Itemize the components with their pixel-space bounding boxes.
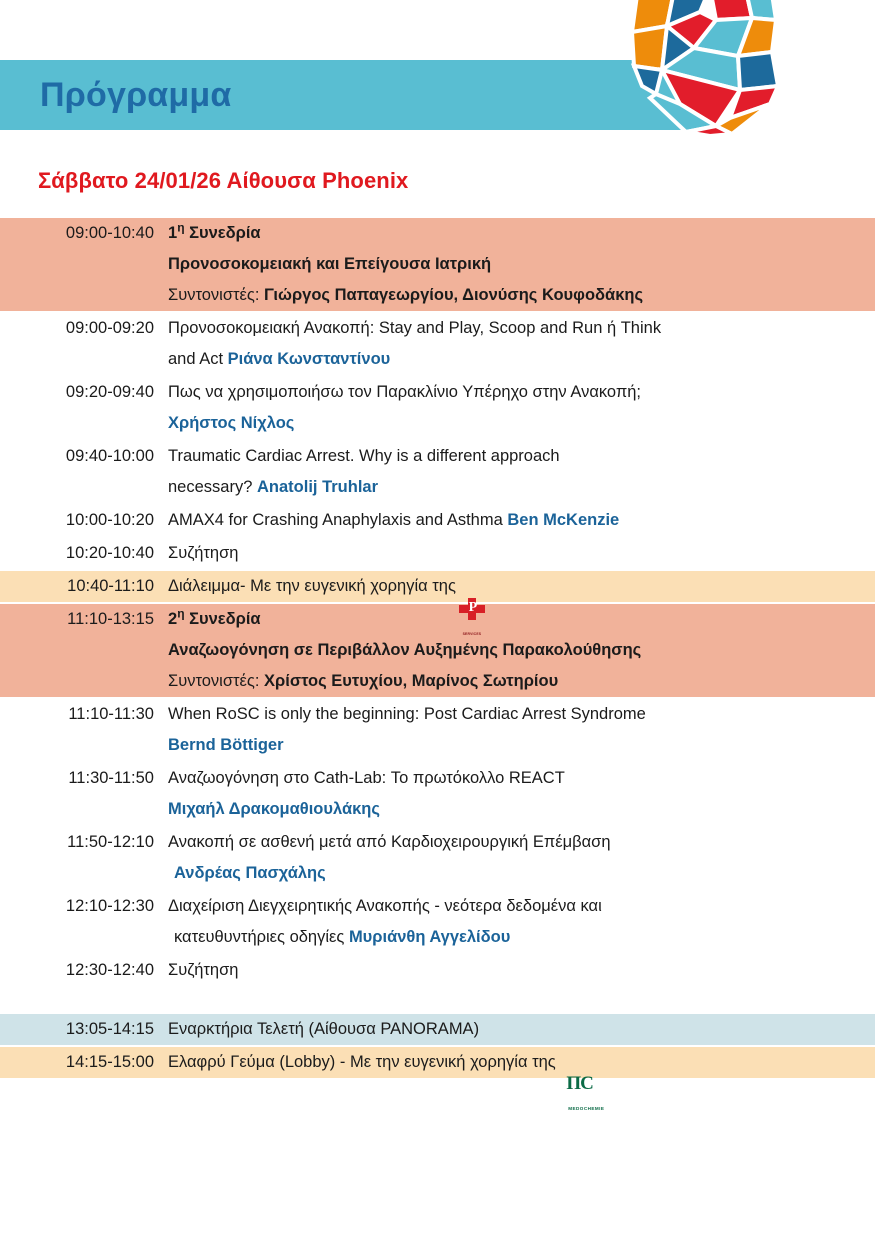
schedule-table: 09:00-10:40 1η Συνεδρία Προνοσοκομειακή … — [0, 218, 875, 1080]
talk-body: Διαχείριση Διεγχειρητικής Ανακοπής - νεό… — [168, 891, 875, 953]
talk-body: When RoSC is only the beginning: Post Ca… — [168, 699, 875, 761]
talk-body: Συζήτηση — [168, 538, 875, 569]
moderators-names: Χρίστος Ευτυχίου, Μαρίνος Σωτηρίου — [264, 672, 558, 690]
talk-title-line1: Πως να χρησιμοποιήσω τον Παρακλίνιο Υπέρ… — [168, 383, 641, 401]
talk-speaker: Ανδρέας Πασχάλης — [168, 858, 326, 889]
session-number: 2 — [168, 610, 177, 628]
session-word: Συνεδρία — [189, 610, 260, 628]
talk-body: Ανακοπή σε ασθενή μετά από Καρδιοχειρουρ… — [168, 827, 875, 889]
talk-title-line1: Συζήτηση — [168, 544, 238, 562]
row-time: 11:10-13:15 — [0, 604, 168, 635]
session-title: Προνοσοκομειακή και Επείγουσα Ιατρική — [168, 249, 845, 280]
talk-title-line1: Διαχείριση Διεγχειρητικής Ανακοπής - νεό… — [168, 897, 602, 915]
session-number-sup: η — [177, 607, 184, 621]
sponsor-subtext: MEDOCHEMIE — [563, 1093, 609, 1124]
row-time: 09:00-09:20 — [0, 313, 168, 344]
talk-title-line2: κατευθυντήριες οδηγίες — [168, 922, 344, 953]
session-title: Αναζωογόνηση σε Περιβάλλον Αυξημένης Παρ… — [168, 635, 845, 666]
talk-row: 11:10-11:30 When RoSC is only the beginn… — [0, 699, 875, 763]
talk-title-line1: Προνοσοκομειακή Ανακοπή: Stay and Play, … — [168, 319, 661, 337]
talk-body: Traumatic Cardiac Arrest. Why is a diffe… — [168, 441, 875, 503]
session-header-row: 09:00-10:40 1η Συνεδρία Προνοσοκομειακή … — [0, 218, 875, 313]
lunch-label: Ελαφρύ Γεύμα (Lobby) - Με την ευγενική χ… — [168, 1053, 556, 1071]
talk-speaker: Μιχαήλ Δρακομαθιουλάκης — [168, 800, 380, 818]
talk-row: 09:40-10:00 Traumatic Cardiac Arrest. Wh… — [0, 441, 875, 505]
talk-title-line1: When RoSC is only the beginning: Post Ca… — [168, 705, 646, 723]
session-word: Συνεδρία — [189, 224, 260, 242]
talk-row: 11:30-11:50 Αναζωογόνηση στο Cath-Lab: Τ… — [0, 763, 875, 827]
talk-speaker: Anatolij Truhlar — [257, 478, 378, 496]
talk-row: 10:20-10:40 Συζήτηση — [0, 538, 875, 571]
talk-row: 09:20-09:40 Πως να χρησιμοποιήσω τον Παρ… — [0, 377, 875, 441]
row-time: 11:30-11:50 — [0, 763, 168, 794]
talk-title-line1: Συζήτηση — [168, 961, 238, 979]
lunch-row: 14:15-15:00 Ελαφρύ Γεύμα (Lobby) - Με τη… — [0, 1047, 875, 1080]
page-title: Πρόγραμμα — [40, 74, 232, 116]
polygonal-heart-logo — [620, 0, 785, 136]
talk-row: 12:10-12:30 Διαχείριση Διεγχειρητικής Αν… — [0, 891, 875, 955]
session-number-sup: η — [177, 221, 184, 235]
talk-speaker: Μυριάνθη Αγγελίδου — [349, 928, 510, 946]
talk-title-line1: AMAX4 for Crashing Anaphylaxis and Asthm… — [168, 511, 503, 529]
talk-speaker: Ριάνα Κωνσταντίνου — [228, 350, 391, 368]
row-time: 10:40-11:10 — [0, 571, 168, 602]
talk-row: 12:30-12:40 Συζήτηση — [0, 955, 875, 988]
program-page: Πρόγραμμα — [0, 0, 875, 1241]
break-body: Διάλειμμα- Με την ευγενική χορηγία τηςPS… — [168, 571, 875, 602]
break-label: Διάλειμμα- Με την ευγενική χορηγία της — [168, 577, 456, 595]
session-header-body: 1η Συνεδρία Προνοσοκομειακή και Επείγουσ… — [168, 218, 875, 311]
row-time: 11:10-11:30 — [0, 699, 168, 730]
talk-row: 11:50-12:10 Ανακοπή σε ασθενή μετά από Κ… — [0, 827, 875, 891]
row-time: 10:00-10:20 — [0, 505, 168, 536]
session-header-row: 11:10-13:15 2η Συνεδρία Αναζωογόνηση σε … — [0, 604, 875, 699]
moderators-label: Συντονιστές: — [168, 286, 259, 304]
row-time: 14:15-15:00 — [0, 1047, 168, 1078]
talk-speaker: Bernd Böttiger — [168, 736, 284, 754]
row-time: 12:30-12:40 — [0, 955, 168, 986]
talk-body: Προνοσοκομειακή Ανακοπή: Stay and Play, … — [168, 313, 875, 375]
sponsor-subtext: SERVICES — [459, 619, 485, 650]
talk-title-line2: and Act — [168, 350, 223, 368]
talk-title-line2: necessary? — [168, 478, 252, 496]
row-time: 12:10-12:30 — [0, 891, 168, 922]
ceremony-row: 13:05-14:15 Εναρκτήρια Τελετή (Αίθουσα P… — [0, 1014, 875, 1047]
talk-title-line1: Αναζωογόνηση στο Cath-Lab: Το πρωτόκολλο… — [168, 769, 565, 787]
session-number: 1 — [168, 224, 177, 242]
row-time: 09:40-10:00 — [0, 441, 168, 472]
row-time: 09:20-09:40 — [0, 377, 168, 408]
row-time: 09:00-10:40 — [0, 218, 168, 249]
schedule-spacer — [0, 988, 875, 1014]
talk-title-line1: Traumatic Cardiac Arrest. Why is a diffe… — [168, 447, 560, 465]
row-time: 11:50-12:10 — [0, 827, 168, 858]
talk-row: 10:00-10:20 AMAX4 for Crashing Anaphylax… — [0, 505, 875, 538]
moderators-names: Γιώργος Παπαγεωργίου, Διονύσης Κουφοδάκη… — [264, 286, 643, 304]
ceremony-body: Εναρκτήρια Τελετή (Αίθουσα PANORAMA) — [168, 1014, 875, 1045]
sponsor-monogram: ΠC — [566, 1074, 606, 1093]
break-row: 10:40-11:10 Διάλειμμα- Με την ευγενική χ… — [0, 571, 875, 604]
session-header-body: 2η Συνεδρία Αναζωογόνηση σε Περιβάλλον Α… — [168, 604, 875, 697]
row-time: 13:05-14:15 — [0, 1014, 168, 1045]
talk-body: Συζήτηση — [168, 955, 875, 986]
moderators-label: Συντονιστές: — [168, 672, 259, 690]
talk-title-line1: Ανακοπή σε ασθενή μετά από Καρδιοχειρουρ… — [168, 833, 611, 851]
date-heading: Σάββατο 24/01/26 Αίθουσα Phoenix — [38, 168, 408, 194]
talk-speaker: Χρήστος Νίχλος — [168, 414, 294, 432]
row-time: 10:20-10:40 — [0, 538, 168, 569]
talk-speaker: Ben McKenzie — [507, 511, 619, 529]
talk-row: 09:00-09:20 Προνοσοκομειακή Ανακοπή: Sta… — [0, 313, 875, 377]
talk-body: AMAX4 for Crashing Anaphylaxis and Asthm… — [168, 505, 875, 536]
talk-body: Πως να χρησιμοποιήσω τον Παρακλίνιο Υπέρ… — [168, 377, 875, 439]
lunch-body: Ελαφρύ Γεύμα (Lobby) - Με την ευγενική χ… — [168, 1047, 875, 1078]
talk-body: Αναζωογόνηση στο Cath-Lab: Το πρωτόκολλο… — [168, 763, 875, 825]
